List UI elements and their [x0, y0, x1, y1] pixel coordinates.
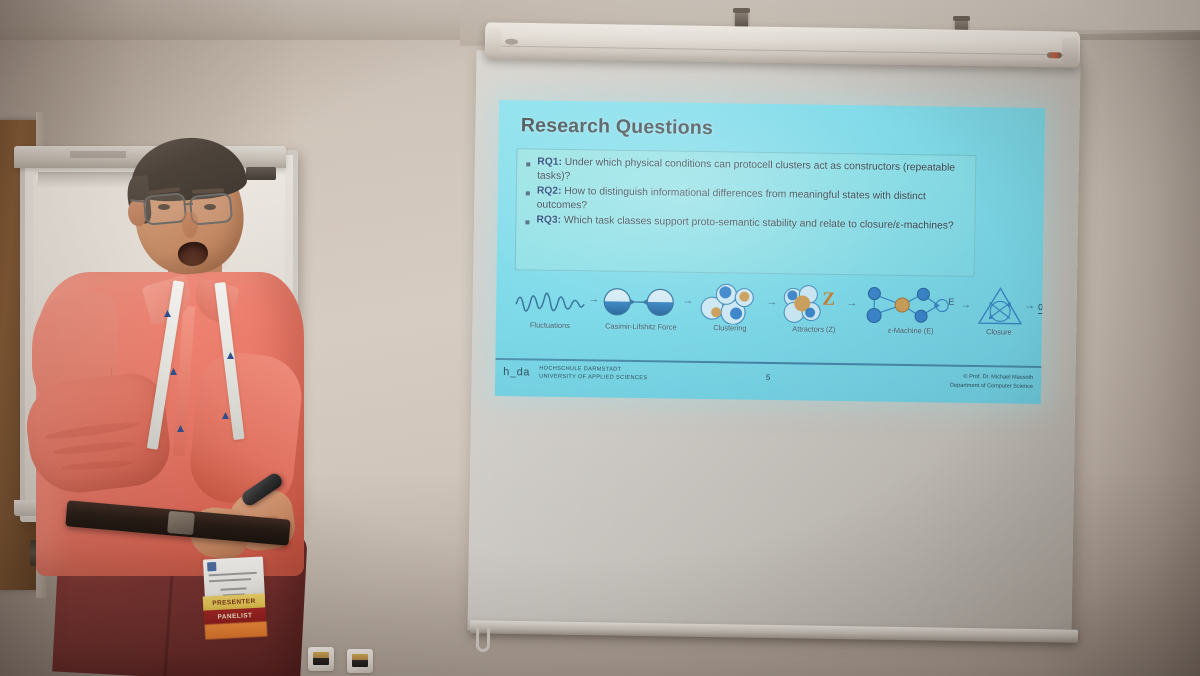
- flow-label-clustering: Clustering: [692, 323, 768, 333]
- flow-label-attractors: Attractors (Z): [768, 324, 860, 334]
- housing-label-dot: [505, 39, 518, 45]
- rq3-label: RQ3:: [536, 215, 561, 226]
- attractor-z-glyph: Z: [822, 289, 835, 311]
- list-item: RQ1: Under which physical conditions can…: [524, 155, 969, 189]
- bullet-icon: [525, 221, 529, 225]
- cluster-icon: [696, 282, 763, 325]
- flow-label-casimir: Casimir-Lifshitz Force: [582, 321, 700, 332]
- rq2-label: RQ2:: [537, 186, 562, 197]
- process-flow-diagram: → →: [504, 276, 1037, 358]
- slide-title: Research Questions: [521, 114, 714, 140]
- list-item: RQ2: How to distinguish informational di…: [524, 184, 969, 218]
- flow-label-closure: Closure: [960, 327, 1038, 337]
- housing-control-knob[interactable]: [1047, 52, 1062, 58]
- nose: [182, 212, 198, 238]
- epsilon-machine-e-glyph: E: [948, 297, 954, 307]
- presenter-arm-right: [186, 349, 305, 509]
- badge-text-line: [209, 572, 257, 577]
- badge-text-line: [209, 578, 251, 582]
- rq3-body: Which task classes support proto-semanti…: [561, 215, 954, 232]
- badge-logo-icon: [207, 562, 216, 571]
- flow-label-fluctuations: Fluctuations: [510, 320, 590, 330]
- flow-label-epsilon-machine: ε-Machine (E): [862, 325, 960, 335]
- screen-pull-handle[interactable]: [476, 628, 490, 652]
- slide-content-box: RQ1: Under which physical conditions can…: [515, 148, 977, 277]
- belt-buckle: [167, 511, 195, 535]
- flow-arrow-6: →: [1024, 300, 1035, 312]
- projected-slide: Research Questions RQ1: Under which phys…: [495, 100, 1045, 404]
- rq1-text: RQ1: Under which physical conditions can…: [537, 156, 969, 190]
- waveform-icon: [514, 280, 587, 321]
- glasses-lens-left: [143, 192, 187, 226]
- state-graph-icon: [860, 284, 961, 327]
- two-spheres-icon: [602, 282, 679, 323]
- housing-endcap-left: [487, 27, 501, 53]
- rq2-text: RQ2: How to distinguish informational di…: [537, 185, 969, 219]
- mount-bracket: [953, 16, 970, 21]
- flow-arrow-1: →: [588, 293, 599, 305]
- conference-room-photo: Research Questions RQ1: Under which phys…: [0, 0, 1200, 676]
- housing-seam: [501, 46, 1064, 56]
- bullet-icon: [526, 192, 530, 196]
- chin-shadow: [156, 250, 230, 276]
- housing-endcap-right: [1062, 37, 1078, 63]
- flow-arrow-2: →: [682, 295, 693, 307]
- research-questions-list: RQ1: Under which physical conditions can…: [523, 155, 969, 235]
- mount-bracket: [733, 8, 750, 13]
- wall-socket-3[interactable]: [347, 649, 373, 673]
- flow-arrow-4: →: [846, 297, 857, 309]
- rq1-label: RQ1:: [537, 157, 562, 168]
- bullet-icon: [526, 162, 530, 166]
- flow-arrow-3: →: [766, 296, 777, 308]
- rq1-body: Under which physical conditions can prot…: [537, 157, 955, 182]
- badge-text-line: [220, 587, 246, 590]
- triangle-cycle-icon: [976, 285, 1025, 328]
- copyright-block: © Prof. Dr. Michael Massoth Department o…: [950, 373, 1033, 392]
- presenter: PRESENTER PANELIST: [18, 140, 318, 676]
- socket-contacts: [352, 654, 368, 667]
- copyright-line-2: Department of Computer Science: [950, 381, 1033, 391]
- flow-arrow-5: →: [960, 299, 971, 311]
- rq2-body: How to distinguish informational differe…: [537, 186, 926, 211]
